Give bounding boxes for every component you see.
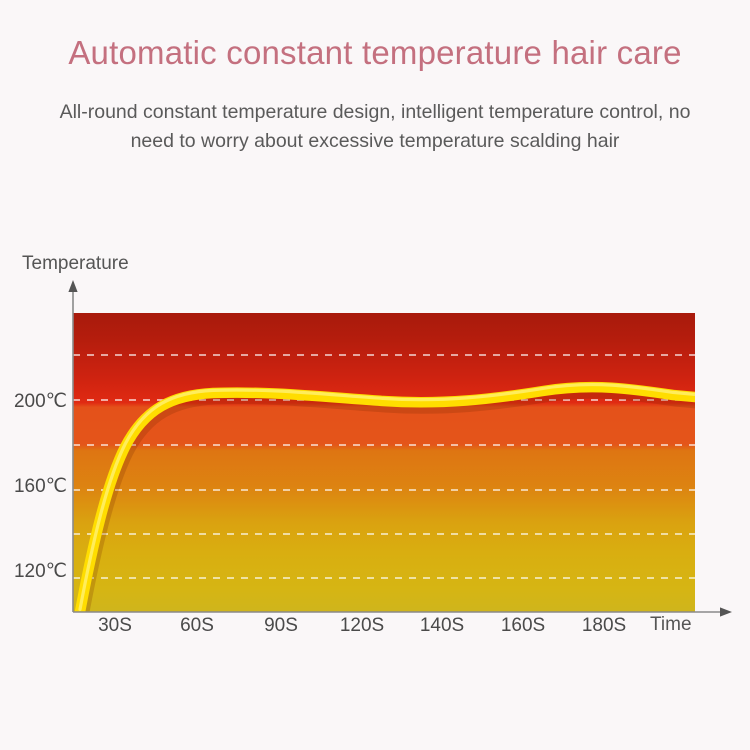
- x-tick-label-30s: 30S: [85, 615, 145, 637]
- x-tick-label-60s: 60S: [167, 615, 227, 637]
- x-axis-arrow-icon: [720, 607, 732, 616]
- x-tick-label-180s: 180S: [574, 615, 634, 637]
- y-tick-label-160: 160℃: [5, 475, 67, 498]
- page-subtitle: All-round constant temperature design, i…: [50, 98, 700, 156]
- plot-area: [73, 313, 695, 612]
- plot-graphics: [73, 313, 695, 612]
- y-axis-title: Temperature: [22, 253, 129, 275]
- x-tick-label-90s: 90S: [251, 615, 311, 637]
- x-axis-title: Time: [650, 614, 692, 636]
- temperature-curve-highlight: [80, 385, 695, 610]
- page-title: Automatic constant temperature hair care: [0, 34, 750, 72]
- page-root: Automatic constant temperature hair care…: [0, 0, 750, 750]
- y-tick-label-200: 200℃: [5, 390, 67, 413]
- y-tick-label-120: 120℃: [5, 560, 67, 583]
- y-axis-arrow-icon: [68, 280, 77, 292]
- temperature-chart: Temperature Time 200℃ 160℃ 120℃: [0, 240, 750, 660]
- x-tick-label-140s: 140S: [412, 615, 472, 637]
- temperature-curve-shadow: [82, 392, 695, 612]
- x-tick-label-120s: 120S: [332, 615, 392, 637]
- x-tick-label-160s: 160S: [493, 615, 553, 637]
